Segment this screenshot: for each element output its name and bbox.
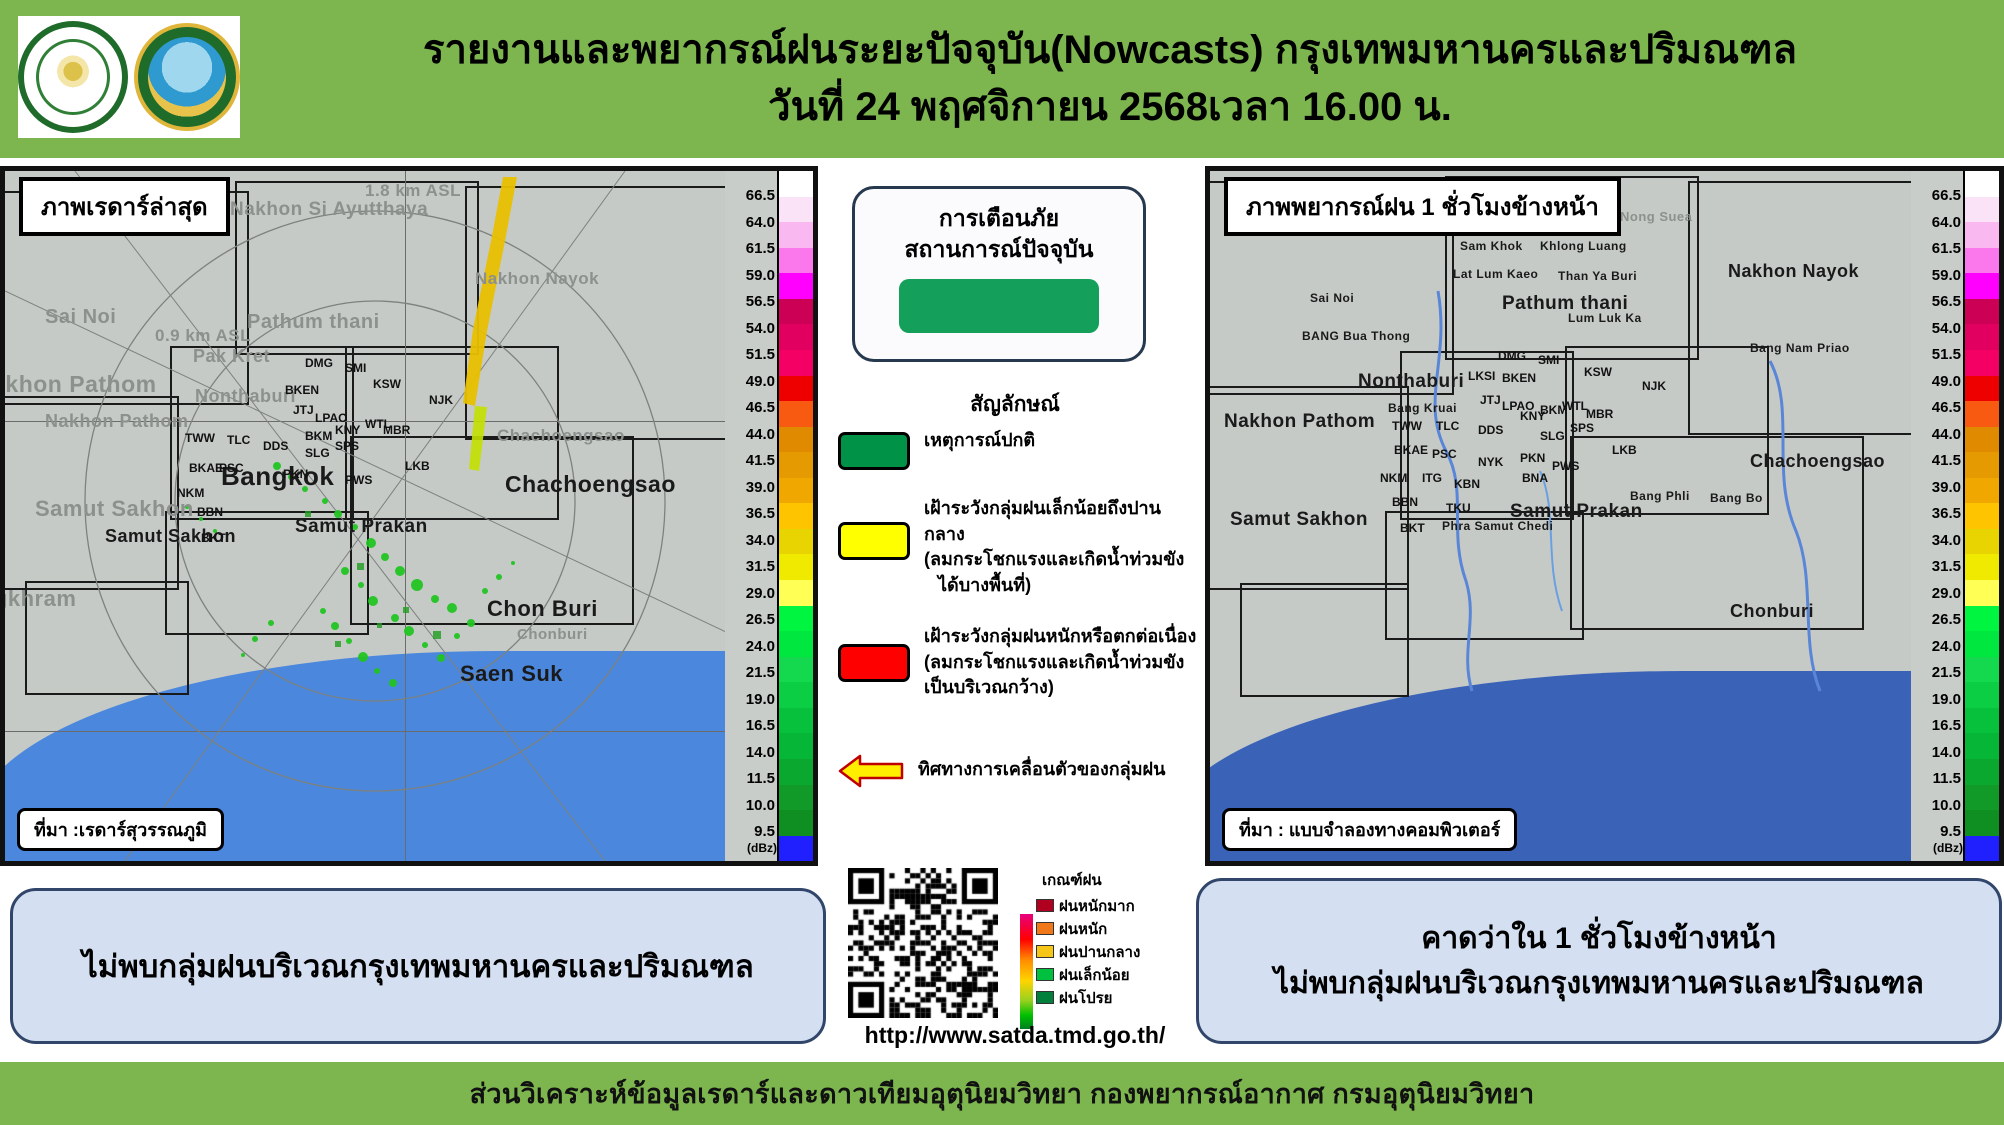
district-code: SMI (1538, 353, 1559, 367)
legend-label-line-3: เป็นบริเวณกว้าง) (924, 675, 1196, 701)
district-code: NYK (1478, 455, 1503, 469)
district-code: SMI (345, 361, 366, 375)
forecast-panel-tag: ภาพพยากรณ์ฝน 1 ชั่วโมงข้างหน้า (1224, 177, 1621, 236)
district-code: SPS (335, 439, 359, 453)
red-swatch-icon (838, 644, 910, 682)
map-label: ngkhram (5, 586, 76, 612)
legend-label-line-3: ได้บางพื้นที่) (924, 573, 1198, 599)
colorbar-unit: (dBz) (1933, 841, 1963, 855)
district-code: MBR (1586, 407, 1613, 421)
district-code: BBN (1392, 495, 1418, 509)
district-code: TLC (1436, 419, 1459, 433)
colorbar-ticks: 66.564.061.559.056.554.051.549.046.544.0… (725, 171, 777, 861)
district-code: JTJ (293, 403, 314, 417)
map-label: Chonburi (1730, 601, 1814, 622)
district-code: DDS (263, 439, 288, 453)
map-label: Chonburi (517, 626, 588, 643)
district-code: BKEN (1502, 371, 1536, 385)
criteria-label: ฝนปานกลาง (1059, 940, 1140, 964)
forecast-source-tag: ที่มา : แบบจำลองทางคอมพิวเตอร์ (1222, 808, 1517, 851)
radar-panel-tag: ภาพเรดาร์ล่าสุด (19, 177, 230, 236)
radar-image-panel[interactable]: Suphan Buri Phra Nakhon Si Ayutthaya Nak… (0, 166, 818, 866)
map-label: Sai Noi (45, 306, 116, 329)
district-code: BKAE (189, 461, 223, 475)
colorbar-unit: (dBz) (747, 841, 777, 855)
green-swatch-icon (838, 432, 910, 470)
criteria-row: ฝนหนักมาก (1020, 894, 1195, 917)
legend-label-line-1: เฝ้าระวังกลุ่มฝนหนักหรือตกต่อเนื่อง (924, 624, 1196, 650)
colorbar-strip (777, 171, 813, 861)
criteria-chip-icon (1036, 991, 1054, 1004)
colorbar-strip (1963, 171, 1999, 861)
district-code: SLG (1540, 429, 1565, 443)
district-code: KSW (373, 377, 401, 391)
district-code: MBR (383, 423, 410, 437)
forecast-image-panel[interactable]: Suphan Buri Phra Nakhon Si Ayutthaya Non… (1205, 166, 2004, 866)
message-line-2: ไม่พบกลุ่มฝนบริเวณกรุงเทพมหานครและปริมณฑ… (1274, 961, 1924, 1006)
map-label: Samut Prakan (295, 516, 428, 538)
map-label: Nakhon Pathom (5, 371, 157, 398)
legend-item-heavy: เฝ้าระวังกลุ่มฝนหนักหรือตกต่อเนื่อง (ลมก… (838, 624, 1198, 701)
rain-criteria-legend: เกณฑ์ฝน ฝนหนักมาก ฝนหนัก ฝนปานกลาง (1020, 868, 1195, 1009)
district-code: NKM (177, 486, 204, 500)
center-legend-column: การเตือนภัย สถานการณ์ปัจจุบัน สัญลักษณ์ … (830, 166, 1200, 866)
map-label: Nong Suea (1620, 209, 1692, 224)
district-code: NJK (1642, 379, 1666, 393)
district-code: BNA (1522, 471, 1548, 485)
district-code: DMG (305, 356, 333, 370)
map-label: Samut Sakhon (35, 496, 194, 522)
criteria-chip-icon (1036, 945, 1054, 958)
district-code: LKSI (1468, 369, 1495, 383)
criteria-label: ฝนหนักมาก (1059, 894, 1135, 918)
altitude-label: 0.9 km ASL (155, 326, 251, 346)
colorbar-ticks: 66.564.061.559.056.554.051.549.046.544.0… (1911, 171, 1963, 861)
district-code: PKN (1520, 451, 1545, 465)
criteria-chip-icon (1036, 899, 1054, 912)
tmd-department-seal-logo (134, 23, 240, 131)
map-label: Chon Buri (487, 596, 598, 622)
legend-item-light-moderate: เฝ้าระวังกลุ่มฝนเล็กน้อยถึงปานกลาง (ลมกร… (838, 496, 1198, 598)
district-code: BKT (201, 531, 226, 545)
qr-code[interactable] (848, 868, 998, 1018)
district-code: BKM (305, 429, 332, 443)
map-label: Bang Nam Priao (1750, 341, 1850, 355)
criteria-label: ฝนเล็กน้อย (1059, 963, 1130, 987)
forecast-colorbar: 66.564.061.559.056.554.051.549.046.544.0… (1911, 171, 1999, 861)
map-label: Bang Kruai (1388, 401, 1457, 415)
district-code: DDS (1478, 423, 1503, 437)
district-code: DMG (1498, 349, 1526, 363)
forecast-map: Suphan Buri Phra Nakhon Si Ayutthaya Non… (1210, 171, 1999, 861)
map-label: Chachoengsao (505, 471, 676, 498)
district-code: NJK (429, 393, 453, 407)
map-label: Lum Luk Ka (1568, 311, 1642, 325)
legend-label-line-2: (ลมกระโชกแรงและเกิดน้ำท่วมขัง (924, 650, 1196, 676)
district-code: PWS (1552, 459, 1579, 473)
criteria-chip-icon (1036, 922, 1054, 935)
district-code: TWW (1392, 419, 1422, 433)
district-code: SLG (305, 446, 330, 460)
criteria-row: ฝนเล็กน้อย (1020, 963, 1195, 986)
legend-label: เหตุการณ์ปกติ (924, 428, 1035, 454)
alert-card-title: การเตือนภัย สถานการณ์ปัจจุบัน (904, 203, 1093, 265)
yellow-swatch-icon (838, 522, 910, 560)
website-url[interactable]: http://www.satda.tmd.go.th/ (830, 1022, 1200, 1049)
district-code: KSW (1584, 365, 1612, 379)
altitude-label: 1.8 km ASL (365, 181, 461, 201)
criteria-row: ฝนโปรย (1020, 986, 1195, 1009)
district-code: BKT (1400, 521, 1425, 535)
district-code: BKAE (1394, 443, 1428, 457)
message-line-1: คาดว่าใน 1 ชั่วโมงข้างหน้า (1421, 916, 1776, 961)
district-code: BBN (197, 505, 223, 519)
map-label: Chachoengsao (497, 426, 625, 446)
map-label: Sam Khok (1460, 239, 1523, 253)
map-label: Bang Bo (1710, 491, 1763, 505)
criteria-title: เกณฑ์ฝน (1042, 868, 1195, 892)
radar-colorbar: 66.564.061.559.056.554.051.549.046.544.0… (725, 171, 813, 861)
map-label: Pathum thani (247, 311, 380, 334)
map-label: Nonthaburi (195, 386, 296, 407)
map-label: Nakhon Nayok (1728, 261, 1859, 282)
title-line-1: รายงานและพยากรณ์ฝนระยะปัจจุบัน(Nowcasts)… (423, 28, 1797, 72)
alert-status-card: การเตือนภัย สถานการณ์ปัจจุบัน (852, 186, 1146, 362)
alert-title-line-2: สถานการณ์ปัจจุบัน (904, 234, 1093, 265)
criteria-row: ฝนหนัก (1020, 917, 1195, 940)
district-code: KBN (1454, 477, 1480, 491)
alert-title-line-1: การเตือนภัย (904, 203, 1093, 234)
page-header: รายงานและพยากรณ์ฝนระยะปัจจุบัน(Nowcasts)… (0, 0, 2004, 158)
alert-status-indicator (899, 279, 1099, 333)
map-label: Pak Kret (193, 346, 270, 367)
district-code: SPS (1570, 421, 1594, 435)
radar-map: Suphan Buri Phra Nakhon Si Ayutthaya Nak… (5, 171, 813, 861)
district-code: KNY (335, 423, 360, 437)
criteria-label: ฝนหนัก (1059, 917, 1107, 941)
tmd-royal-seal-logo (18, 21, 128, 133)
district-code: JTJ (1480, 393, 1501, 407)
left-arrow-icon (838, 754, 904, 788)
map-label: Samut Sakhon (1230, 509, 1368, 531)
criteria-chip-icon (1036, 968, 1054, 981)
criteria-gradient-bar (1020, 914, 1033, 1029)
district-code: ITG (1422, 471, 1442, 485)
map-label: Sai Noi (1310, 291, 1354, 305)
district-code: LKB (1612, 443, 1637, 457)
title-line-2: วันที่ 24 พฤศจิกายน 2568เวลา 16.00 น. (240, 81, 1980, 134)
map-label: Nakhon Nayok (475, 269, 599, 289)
page-footer: ส่วนวิเคราะห์ข้อมูลเรดาร์และดาวเทียมอุตุ… (0, 1062, 2004, 1125)
district-code: PWS (345, 473, 372, 487)
legend-label: ทิศทางการเคลื่อนตัวของกลุ่มฝน (918, 757, 1165, 783)
map-label: BANG Bua Thong (1302, 329, 1410, 343)
district-code: BKEN (285, 383, 319, 397)
legend-label-line-2: (ลมกระโชกแรงและเกิดน้ำท่วมขัง (924, 547, 1198, 573)
district-code: PKN (283, 467, 308, 481)
criteria-label: ฝนโปรย (1059, 986, 1112, 1010)
forecast-condition-message: คาดว่าใน 1 ชั่วโมงข้างหน้า ไม่พบกลุ่มฝนบ… (1196, 878, 2002, 1044)
message-text: ไม่พบกลุ่มฝนบริเวณกรุงเทพมหานครและปริมณฑ… (82, 941, 754, 991)
radar-source-tag: ที่มา :เรดาร์สุวรรณภูมิ (17, 808, 224, 851)
map-label: Than Ya Buri (1558, 269, 1637, 283)
map-label: Nakhon Pathom (45, 411, 189, 432)
criteria-row: ฝนปานกลาง (1020, 940, 1195, 963)
map-label: Nonthaburi (1358, 371, 1464, 393)
district-code: NKM (1380, 471, 1407, 485)
district-code: PSC (219, 461, 244, 475)
map-label: Chachoengsao (1750, 451, 1885, 472)
district-code: LKB (405, 459, 430, 473)
district-code: WTL (1562, 399, 1588, 413)
district-code: PSC (1432, 447, 1457, 461)
legend-label-line-1: เฝ้าระวังกลุ่มฝนเล็กน้อยถึงปานกลาง (924, 496, 1198, 547)
legend-title: สัญลักษณ์ (830, 388, 1200, 421)
map-label: Samut Prakan (1510, 501, 1643, 523)
current-condition-message: ไม่พบกลุ่มฝนบริเวณกรุงเทพมหานครและปริมณฑ… (10, 888, 826, 1044)
map-label: Khlong Luang (1540, 239, 1627, 253)
legend-item-normal: เหตุการณ์ปกติ (838, 428, 1198, 470)
map-label: Lat Lum Kaeo (1453, 267, 1538, 281)
footer-text: ส่วนวิเคราะห์ข้อมูลเรดาร์และดาวเทียมอุตุ… (470, 1072, 1535, 1115)
district-code: TKU (1446, 501, 1471, 515)
page-title: รายงานและพยากรณ์ฝนระยะปัจจุบัน(Nowcasts)… (240, 24, 1980, 134)
map-label: Nakhon Pathom (1224, 411, 1375, 433)
district-code: TLC (227, 433, 250, 447)
map-label: Saen Suk (460, 661, 563, 687)
logo-box (18, 16, 240, 138)
district-code: TWW (185, 431, 215, 445)
legend-item-direction: ทิศทางการเคลื่อนตัวของกลุ่มฝน (838, 752, 1198, 788)
